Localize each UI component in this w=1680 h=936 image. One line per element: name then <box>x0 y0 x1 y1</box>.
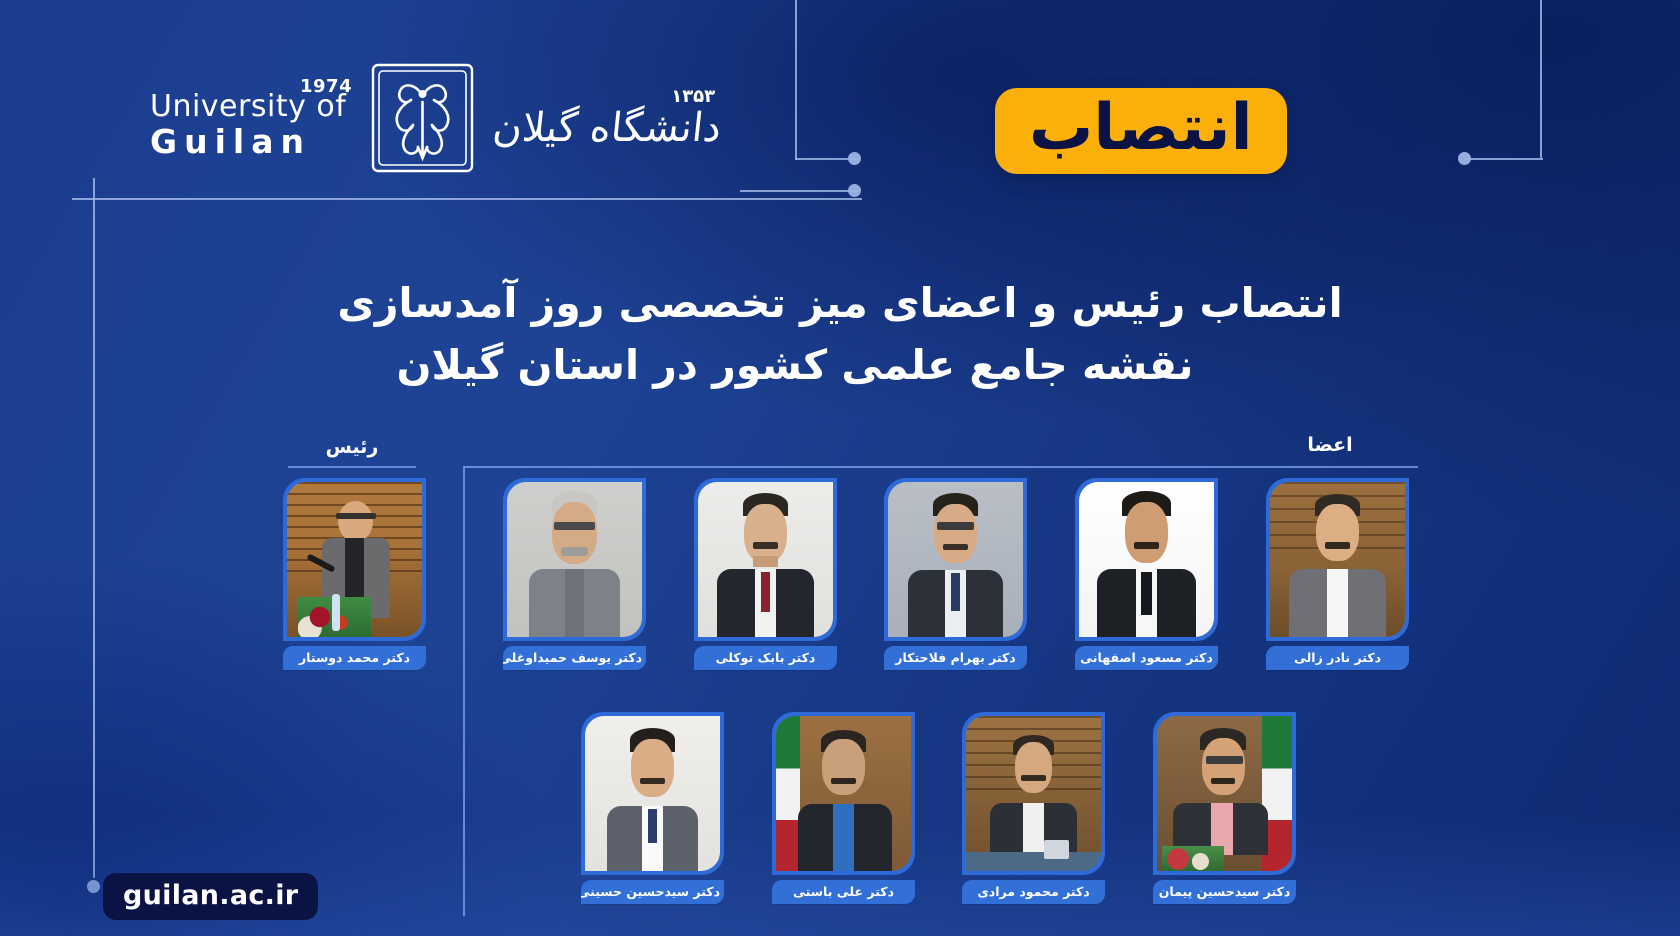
person-photo-inner <box>287 482 422 637</box>
person-photo <box>694 478 837 641</box>
photo-image-member-9 <box>1157 716 1292 871</box>
person-photo <box>772 712 915 875</box>
person-photo-inner <box>1079 482 1214 637</box>
person-photo-inner <box>888 482 1023 637</box>
person-photo-inner <box>1157 716 1292 871</box>
person-name: دکتر یوسف حمیداوغلی <box>503 646 646 670</box>
person-photo-inner <box>966 716 1101 871</box>
person-photo-inner <box>1270 482 1405 637</box>
photo-image-member-2 <box>698 482 833 637</box>
photo-image-member-4 <box>1079 482 1214 637</box>
members-bracket-line <box>463 466 1418 468</box>
person-card-member-4[interactable]: دکتر مسعود اصفهانی <box>1075 478 1218 670</box>
members-group-label: اعضا <box>1270 434 1390 456</box>
person-photo-inner <box>698 482 833 637</box>
photo-image-member-8 <box>966 716 1101 871</box>
person-photo <box>1153 712 1296 875</box>
members-bracket-stem <box>463 466 465 916</box>
photo-image-member-6 <box>585 716 720 871</box>
person-photo <box>1266 478 1409 641</box>
chair-group-label: رئیس <box>282 436 422 458</box>
person-name: دکتر علی باستی <box>772 880 915 904</box>
person-photo-inner <box>507 482 642 637</box>
photo-image-chair <box>287 482 422 637</box>
person-photo <box>1075 478 1218 641</box>
person-photo <box>581 712 724 875</box>
person-card-chair[interactable]: دکتر محمد دوستار <box>283 478 426 670</box>
person-name: دکتر سیدحسین حسینی مقدم <box>581 880 724 904</box>
person-card-member-2[interactable]: دکتر بابک توکلی <box>694 478 837 670</box>
person-name: دکتر مسعود اصفهانی <box>1075 646 1218 670</box>
person-name: دکتر محمد دوستار <box>283 646 426 670</box>
org-chart: رئیس اعضا <box>0 0 1680 936</box>
chair-bracket-line <box>288 466 416 468</box>
person-card-member-9[interactable]: دکتر سیدحسین پیمان <box>1153 712 1296 904</box>
photo-image-member-1 <box>507 482 642 637</box>
person-photo <box>962 712 1105 875</box>
person-name: دکتر بهرام فلاحتکار <box>884 646 1027 670</box>
person-photo <box>503 478 646 641</box>
website-url-label: guilan.ac.ir <box>123 880 298 911</box>
photo-image-member-3 <box>888 482 1023 637</box>
person-name: دکتر محمود مرادی <box>962 880 1105 904</box>
person-name: دکتر بابک توکلی <box>694 646 837 670</box>
person-card-member-1[interactable]: دکتر یوسف حمیداوغلی <box>503 478 646 670</box>
person-card-member-6[interactable]: دکتر سیدحسین حسینی مقدم <box>581 712 724 904</box>
person-photo-inner <box>776 716 911 871</box>
person-photo <box>283 478 426 641</box>
photo-image-member-7 <box>776 716 911 871</box>
person-photo-inner <box>585 716 720 871</box>
person-card-member-5[interactable]: دکتر نادر زالی <box>1266 478 1409 670</box>
person-card-member-8[interactable]: دکتر محمود مرادی <box>962 712 1105 904</box>
website-url-pill[interactable]: guilan.ac.ir <box>103 873 318 920</box>
person-name: دکتر سیدحسین پیمان <box>1153 880 1296 904</box>
person-card-member-7[interactable]: دکتر علی باستی <box>772 712 915 904</box>
person-name: دکتر نادر زالی <box>1266 646 1409 670</box>
photo-image-member-5 <box>1270 482 1405 637</box>
poster-canvas: 1974 University of Guilan ۱۳۵۳ دانشگاه گ <box>0 0 1680 936</box>
person-card-member-3[interactable]: دکتر بهرام فلاحتکار <box>884 478 1027 670</box>
person-photo <box>884 478 1027 641</box>
